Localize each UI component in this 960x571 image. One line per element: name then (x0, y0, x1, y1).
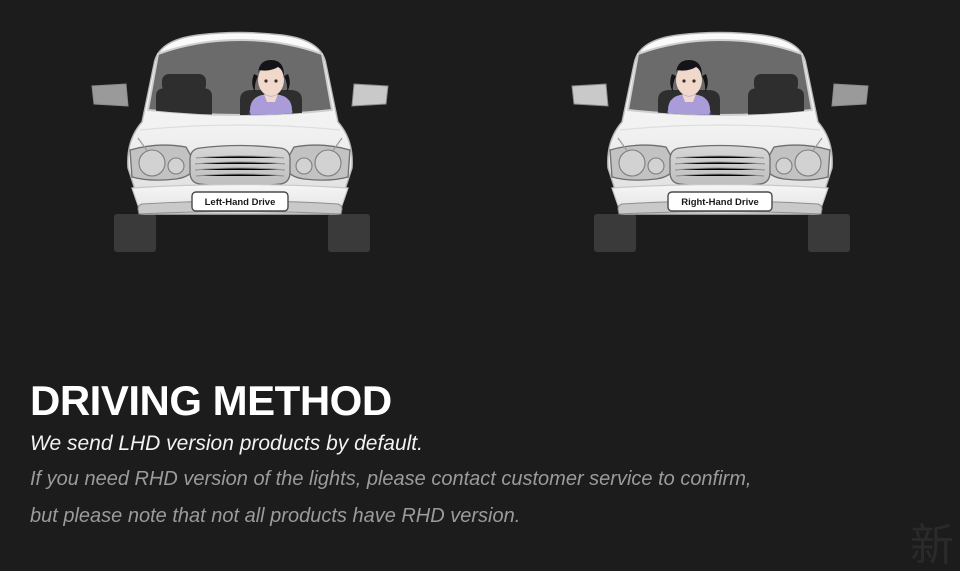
license-plate-rhd: Right-Hand Drive (668, 192, 772, 211)
grille-lhd (190, 146, 290, 187)
secondary-note-line-1: If you need RHD version of the lights, p… (30, 464, 930, 494)
windshield-lhd (148, 40, 332, 126)
primary-note: We send LHD version products by default. (30, 430, 930, 457)
license-plate-lhd: Left-Hand Drive (192, 192, 288, 211)
license-plate-text-rhd: Right-Hand Drive (681, 197, 759, 208)
license-plate-text-lhd: Left-Hand Drive (205, 197, 276, 208)
headlight-right-lhd (284, 145, 350, 180)
driving-method-banner: Left-Hand Drive (0, 0, 960, 570)
car-left-hand-drive: Left-Hand Drive (80, 18, 400, 258)
page-title: DRIVING METHOD (30, 378, 930, 424)
car-illustration-row: Left-Hand Drive (0, 0, 960, 270)
car-front-illustration-rhd: Right-Hand Drive (560, 18, 880, 258)
text-block: DRIVING METHOD We send LHD version produ… (30, 378, 930, 531)
car-right-hand-drive: Right-Hand Drive (560, 18, 880, 258)
secondary-note-line-2: but please note that not all products ha… (30, 501, 930, 531)
tires-lhd (114, 214, 370, 252)
windshield-rhd (628, 40, 812, 126)
grille-rhd (670, 146, 770, 187)
headlight-right-rhd (764, 145, 830, 180)
watermark-glyph: 新 (910, 524, 954, 568)
headlight-left-lhd (130, 145, 196, 180)
tires-rhd (594, 214, 850, 252)
headlight-left-rhd (610, 145, 676, 180)
car-front-illustration-lhd: Left-Hand Drive (80, 18, 400, 258)
